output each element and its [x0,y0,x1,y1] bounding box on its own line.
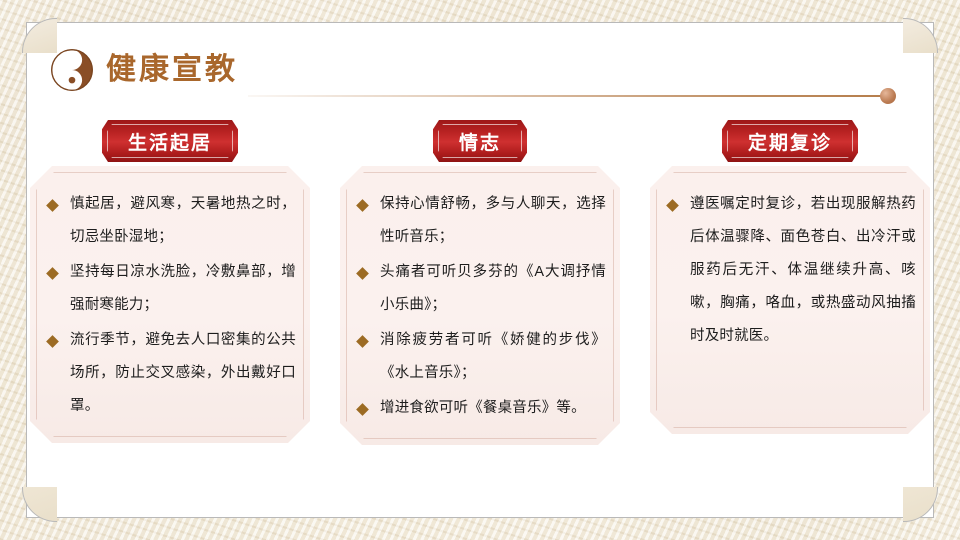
list-item-text: 保持心情舒畅，多与人聊天，选择性听音乐； [380,196,606,245]
taiji-yinyang-icon [50,48,94,92]
plaque-label: 情志 [459,128,501,155]
list-item: 头痛者可听贝多芬的《A大调抒情小乐曲》； [354,256,606,322]
plaque-wrap-1: 生活起居 [30,120,310,168]
list-item-text: 流行季节，避免去人口密集的公共场所，防止交叉感染，外出戴好口罩。 [70,332,296,414]
card-list: 遵医嘱定时复诊，若出现服解热药后体温骤降、面色苍白、出冷汗或服药后无汗、体温继续… [664,188,916,353]
diamond-bullet-icon [46,335,59,348]
diamond-bullet-icon [46,199,59,212]
list-item: 坚持每日凉水洗脸，冷敷鼻部，增强耐寒能力； [44,256,296,322]
list-item: 流行季节，避免去人口密集的公共场所，防止交叉感染，外出戴好口罩。 [44,324,296,423]
list-item-text: 头痛者可听贝多芬的《A大调抒情小乐曲》； [380,264,606,313]
slide-header: 健康宣教 [50,44,238,96]
diamond-bullet-icon [356,335,369,348]
columns-container: 生活起居 慎起居，避风寒，天暑地热之时，切忌坐卧湿地； 坚持每日凉水洗脸，冷敷鼻… [30,120,930,480]
diamond-bullet-icon [356,267,369,280]
card-list: 慎起居，避风寒，天暑地热之时，切忌坐卧湿地； 坚持每日凉水洗脸，冷敷鼻部，增强耐… [44,188,296,423]
list-item: 增进食欲可听《餐桌音乐》等。 [354,392,606,425]
diamond-bullet-icon [356,199,369,212]
column-follow-up: 定期复诊 遵医嘱定时复诊，若出现服解热药后体温骤降、面色苍白、出冷汗或服药后无汗… [650,120,930,480]
plaque-wrap-3: 定期复诊 [650,120,930,168]
card-emotion: 保持心情舒畅，多与人聊天，选择性听音乐； 头痛者可听贝多芬的《A大调抒情小乐曲》… [340,166,620,445]
plaque-life-routine[interactable]: 生活起居 [102,120,238,162]
diamond-bullet-icon [46,267,59,280]
header-rule-dot-icon [880,88,896,104]
list-item: 慎起居，避风寒，天暑地热之时，切忌坐卧湿地； [44,188,296,254]
list-item: 消除疲劳者可听《娇健的步伐》《水上音乐》； [354,324,606,390]
plaque-wrap-2: 情志 [340,120,620,168]
diamond-bullet-icon [356,403,369,416]
card-follow-up: 遵医嘱定时复诊，若出现服解热药后体温骤降、面色苍白、出冷汗或服药后无汗、体温继续… [650,166,930,434]
column-emotion: 情志 保持心情舒畅，多与人聊天，选择性听音乐； 头痛者可听贝多芬的《A大调抒情小… [340,120,620,480]
slide-canvas: 健康宣教 生活起居 慎起居，避风寒，天暑地热之时，切忌坐卧湿地； [0,0,960,540]
page-title: 健康宣教 [106,55,238,85]
header-rule [248,95,888,97]
plaque-emotion[interactable]: 情志 [433,120,527,162]
plaque-label: 生活起居 [128,128,212,155]
list-item-text: 消除疲劳者可听《娇健的步伐》《水上音乐》； [380,332,606,381]
list-item-text: 坚持每日凉水洗脸，冷敷鼻部，增强耐寒能力； [70,264,296,313]
diamond-bullet-icon [666,199,679,212]
list-item-text: 增进食欲可听《餐桌音乐》等。 [380,400,586,416]
plaque-label: 定期复诊 [748,128,832,155]
list-item: 保持心情舒畅，多与人聊天，选择性听音乐； [354,188,606,254]
list-item-text: 遵医嘱定时复诊，若出现服解热药后体温骤降、面色苍白、出冷汗或服药后无汗、体温继续… [690,196,916,344]
plaque-follow-up[interactable]: 定期复诊 [722,120,858,162]
column-life-routine: 生活起居 慎起居，避风寒，天暑地热之时，切忌坐卧湿地； 坚持每日凉水洗脸，冷敷鼻… [30,120,310,480]
card-list: 保持心情舒畅，多与人聊天，选择性听音乐； 头痛者可听贝多芬的《A大调抒情小乐曲》… [354,188,606,425]
list-item-text: 慎起居，避风寒，天暑地热之时，切忌坐卧湿地； [70,196,296,245]
list-item: 遵医嘱定时复诊，若出现服解热药后体温骤降、面色苍白、出冷汗或服药后无汗、体温继续… [664,188,916,353]
card-life-routine: 慎起居，避风寒，天暑地热之时，切忌坐卧湿地； 坚持每日凉水洗脸，冷敷鼻部，增强耐… [30,166,310,443]
